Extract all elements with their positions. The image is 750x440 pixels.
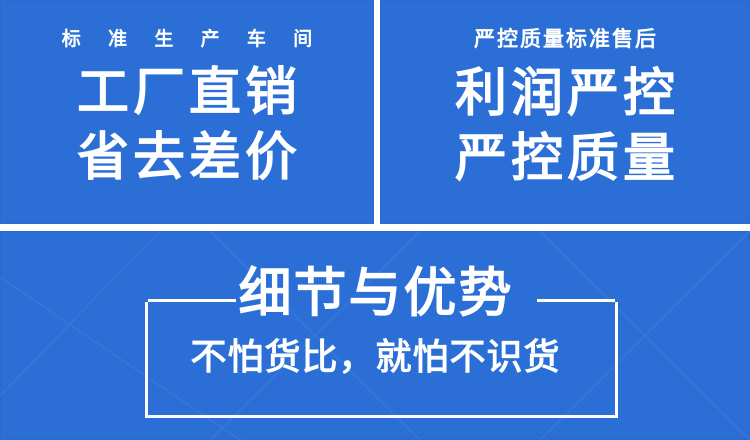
left-panel-eyebrow: 标 准 生 产 车 间 (0, 30, 374, 49)
panel-factory-direct: 标 准 生 产 车 间 工厂直销 省去差价 (0, 0, 374, 224)
right-panel-headline-line1: 利润严控 (380, 68, 750, 120)
left-panel-headline-line2: 省去差价 (0, 132, 374, 184)
bottom-panel-title: 细节与优势 (0, 267, 750, 320)
promo-banner: 标 准 生 产 车 间 工厂直销 省去差价 严控质量标准售后 利润严控 严控质量 (0, 0, 750, 440)
left-panel-headline-line1: 工厂直销 (0, 67, 374, 119)
panel-quality-control-content: 严控质量标准售后 利润严控 严控质量 (380, 29, 750, 224)
panel-details-advantages: 细节与优势 不怕货比，就怕不识货 (0, 231, 750, 440)
panel-details-advantages-content: 细节与优势 不怕货比，就怕不识货 (0, 231, 750, 440)
right-panel-eyebrow: 严控质量标准售后 (380, 29, 750, 50)
panel-factory-direct-content: 标 准 生 产 车 间 工厂直销 省去差价 (0, 30, 374, 224)
panel-quality-control: 严控质量标准售后 利润严控 严控质量 (380, 0, 750, 224)
bottom-panel-subtitle: 不怕货比，就怕不识货 (0, 339, 750, 375)
right-panel-headline-line2: 严控质量 (380, 133, 750, 185)
